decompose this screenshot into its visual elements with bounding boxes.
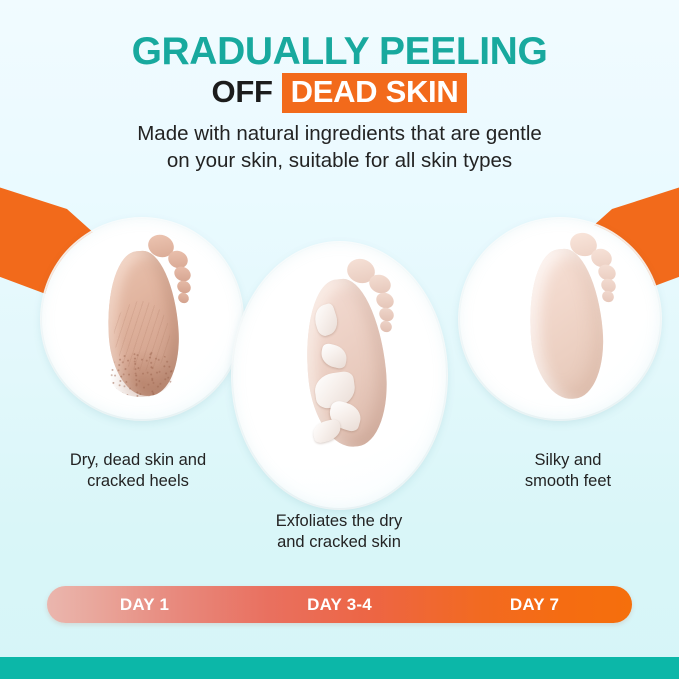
step-caption-after-line-2: smooth feet	[468, 471, 668, 492]
dry-cracked-foot-illustration	[94, 227, 194, 417]
step-caption-after: Silky and smooth feet	[468, 450, 668, 492]
step-caption-before-line-1: Dry, dead skin and	[38, 450, 238, 471]
step-caption-before: Dry, dead skin and cracked heels	[38, 450, 238, 492]
timeline-day-7: DAY 7	[437, 595, 632, 615]
subtitle: Made with natural ingredients that are g…	[0, 120, 679, 174]
step-image-circle-during	[233, 243, 446, 508]
timeline-day-1: DAY 1	[47, 595, 242, 615]
timeline-bar: DAY 1 DAY 3-4 DAY 7	[47, 586, 632, 623]
step-image-circle-after	[460, 219, 660, 419]
headline-off-text: OFF	[212, 74, 273, 109]
timeline-day-3-4: DAY 3-4	[242, 595, 437, 615]
subtitle-line-1: Made with natural ingredients that are g…	[0, 120, 679, 147]
step-caption-during-line-2: and cracked skin	[239, 532, 439, 553]
headline-secondary: OFFDEAD SKIN	[0, 73, 679, 113]
smooth-foot-illustration	[514, 227, 624, 419]
step-caption-during: Exfoliates the dry and cracked skin	[239, 511, 439, 553]
promo-image: GRADUALLY PEELING OFFDEAD SKIN Made with…	[0, 0, 679, 679]
step-caption-after-line-1: Silky and	[468, 450, 668, 471]
subtitle-line-2: on your skin, suitable for all skin type…	[0, 147, 679, 174]
headline-dead-skin-highlight: DEAD SKIN	[282, 73, 468, 113]
footer-teal-bar	[0, 657, 679, 679]
peeling-foot-illustration	[285, 253, 405, 483]
step-caption-during-line-1: Exfoliates the dry	[239, 511, 439, 532]
step-image-circle-before	[42, 219, 242, 419]
headline-primary: GRADUALLY PEELING	[0, 30, 679, 74]
step-caption-before-line-2: cracked heels	[38, 471, 238, 492]
